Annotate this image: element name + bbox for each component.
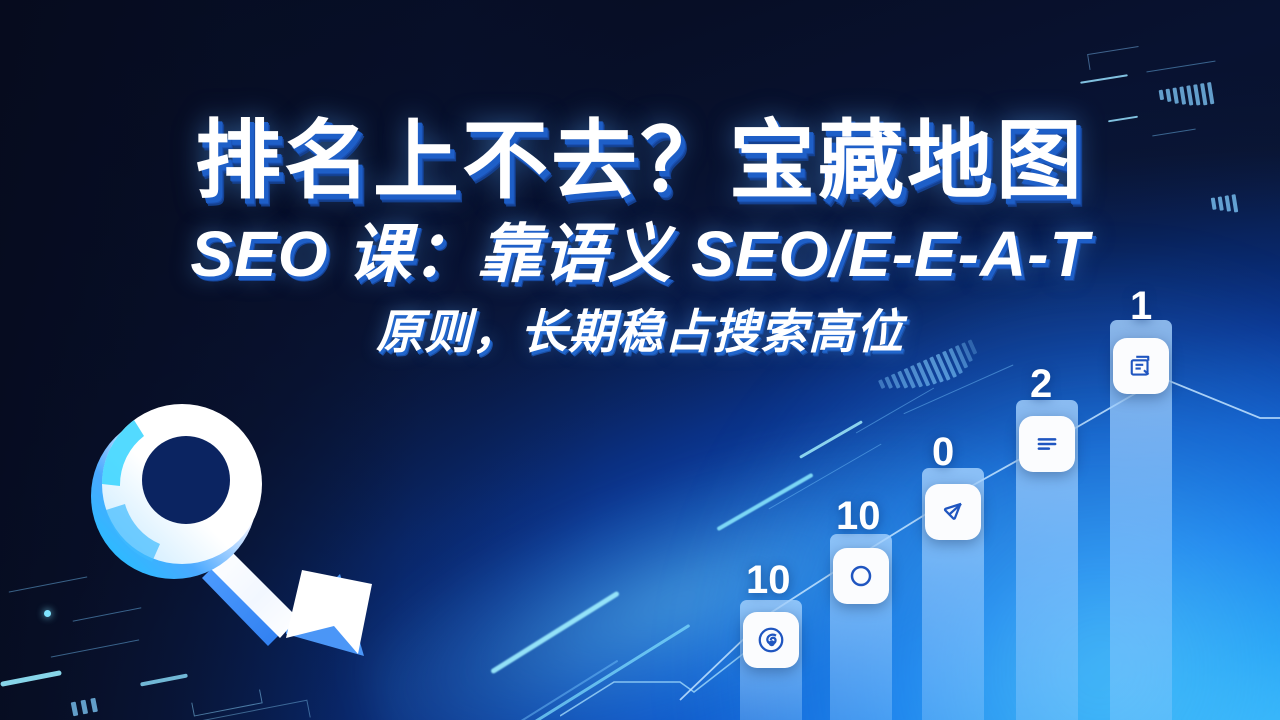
- document-lines-icon: [1019, 416, 1075, 472]
- seo-banner: 排名上不去？宝藏地图 SEO 课：靠语义 SEO/E-E-A-T 原则，长期稳占…: [0, 0, 1280, 720]
- bar-chart: 10 10 0 2: [700, 300, 1280, 720]
- circle-ring-icon: [833, 548, 889, 604]
- chart-bar-label: 10: [836, 496, 881, 536]
- paper-plane-icon: [925, 484, 981, 540]
- spiral-at-icon: [743, 612, 799, 668]
- chart-bar-label: 0: [932, 432, 954, 472]
- folder-page-icon: [1113, 338, 1169, 394]
- chart-bar-label: 2: [1030, 364, 1052, 404]
- chart-bar-label: 10: [746, 560, 791, 600]
- magnifier-arrow-icon: [72, 388, 402, 688]
- chart-bar-label: 1: [1130, 286, 1152, 326]
